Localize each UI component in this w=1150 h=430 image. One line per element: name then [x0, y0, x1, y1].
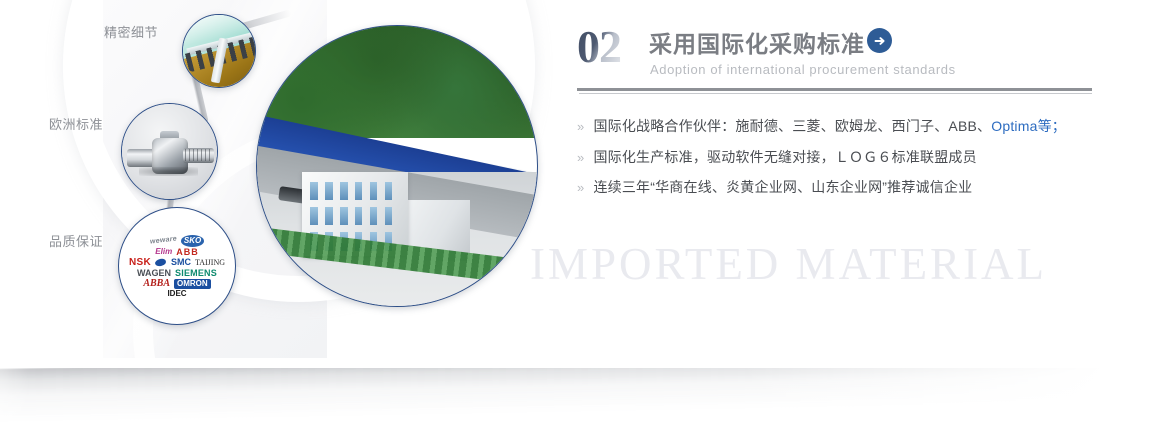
logo-row: Elim ABB: [123, 248, 231, 257]
bullet-item: » 连续三年“华商在线、炎黄企业网、山东企业网”推荐诚信企业: [577, 179, 1097, 197]
section-title-chinese: 采用国际化采购标准: [649, 25, 865, 59]
imported-material-watermark: IMPORTED MATERIAL: [530, 238, 1047, 290]
bullet-text: 国际化生产标准，驱动软件无缝对接，ＬＯＧ６标准联盟成员: [593, 149, 976, 167]
shadow-fade-left: [0, 368, 30, 430]
divider-thin: [579, 93, 1092, 94]
screw-drop-shadow: [139, 167, 198, 177]
precision-gear-photo-bubble: [182, 14, 256, 88]
divider-thick: [577, 88, 1092, 91]
smc-logo: SMC: [171, 258, 191, 267]
bullet-text-accent: Optima等；: [991, 118, 1066, 134]
logo-row: WAGEN SIEMENS: [123, 269, 231, 278]
bullet-item: » 国际化生产标准，驱动软件无缝对接，ＬＯＧ６标准联盟成员: [577, 149, 1097, 167]
chevron-double-right-icon: »: [577, 119, 584, 134]
bullet-text: 连续三年“华商在线、炎黄企业网、山东企业网”推荐诚信企业: [593, 179, 972, 197]
ball-screw-photo-bubble: [121, 103, 218, 200]
abb-logo: ABB: [176, 248, 199, 257]
logo-row: NSK SMC TAIJING: [123, 258, 231, 268]
screw-threading: [185, 149, 212, 161]
taijing-logo: TAIJING: [195, 259, 225, 267]
weware-logo: weware: [149, 235, 177, 245]
feature-bullet-list: » 国际化战略合作伙伴：施耐德、三菱、欧姆龙、西门子、ABB、Optima等； …: [577, 118, 1097, 210]
bullet-item: » 国际化战略合作伙伴：施耐德、三菱、欧姆龙、西门子、ABB、Optima等；: [577, 118, 1097, 136]
logo-row: IDEC: [123, 290, 231, 298]
omron-logo: OMRON: [174, 279, 211, 289]
sko-logo: SKO: [181, 235, 204, 247]
smc-mark-icon: [154, 258, 166, 267]
forest-hillside: [256, 25, 538, 138]
promo-banner: 精密细节 欧洲标准 品质保证 weware SKO: [0, 0, 1150, 430]
section-content: 02 采用国际化采购标准 Adoption of international p…: [577, 22, 1097, 86]
chevron-double-right-icon: »: [577, 150, 584, 165]
idec-logo: IDEC: [167, 290, 186, 298]
label-european-standard: 欧洲标准: [49, 114, 103, 133]
section-title-english: Adoption of international procurement st…: [650, 62, 956, 77]
elim-logo: Elim: [155, 248, 172, 256]
chevron-double-right-icon: »: [577, 180, 584, 195]
factory-aerial-photo-bubble: [256, 25, 538, 307]
brand-logos-bubble: weware SKO Elim ABB NSK SMC TAIJING WAGE…: [118, 207, 236, 325]
wagen-logo: WAGEN: [137, 269, 171, 278]
bullet-text: 国际化战略合作伙伴：施耐德、三菱、欧姆龙、西门子、ABB、Optima等；: [593, 118, 1066, 136]
abba-logo: ABBA: [143, 279, 170, 289]
label-precision-detail: 精密细节: [104, 22, 158, 41]
siemens-logo: SIEMENS: [175, 269, 217, 278]
logo-row: weware SKO: [123, 235, 231, 247]
section-header: 02 采用国际化采购标准 Adoption of international p…: [577, 22, 1097, 86]
shadow-fade-right: [740, 368, 1150, 430]
logo-row: ABBA OMRON: [123, 279, 231, 289]
bullet-text-lead: 国际化战略合作伙伴：施耐德、三菱、欧姆龙、西门子、ABB、: [593, 118, 991, 134]
section-number: 02: [577, 20, 621, 73]
label-quality-assurance: 品质保证: [49, 231, 103, 250]
arrow-right-circle-icon[interactable]: [867, 28, 892, 53]
nsk-logo: NSK: [129, 258, 151, 268]
